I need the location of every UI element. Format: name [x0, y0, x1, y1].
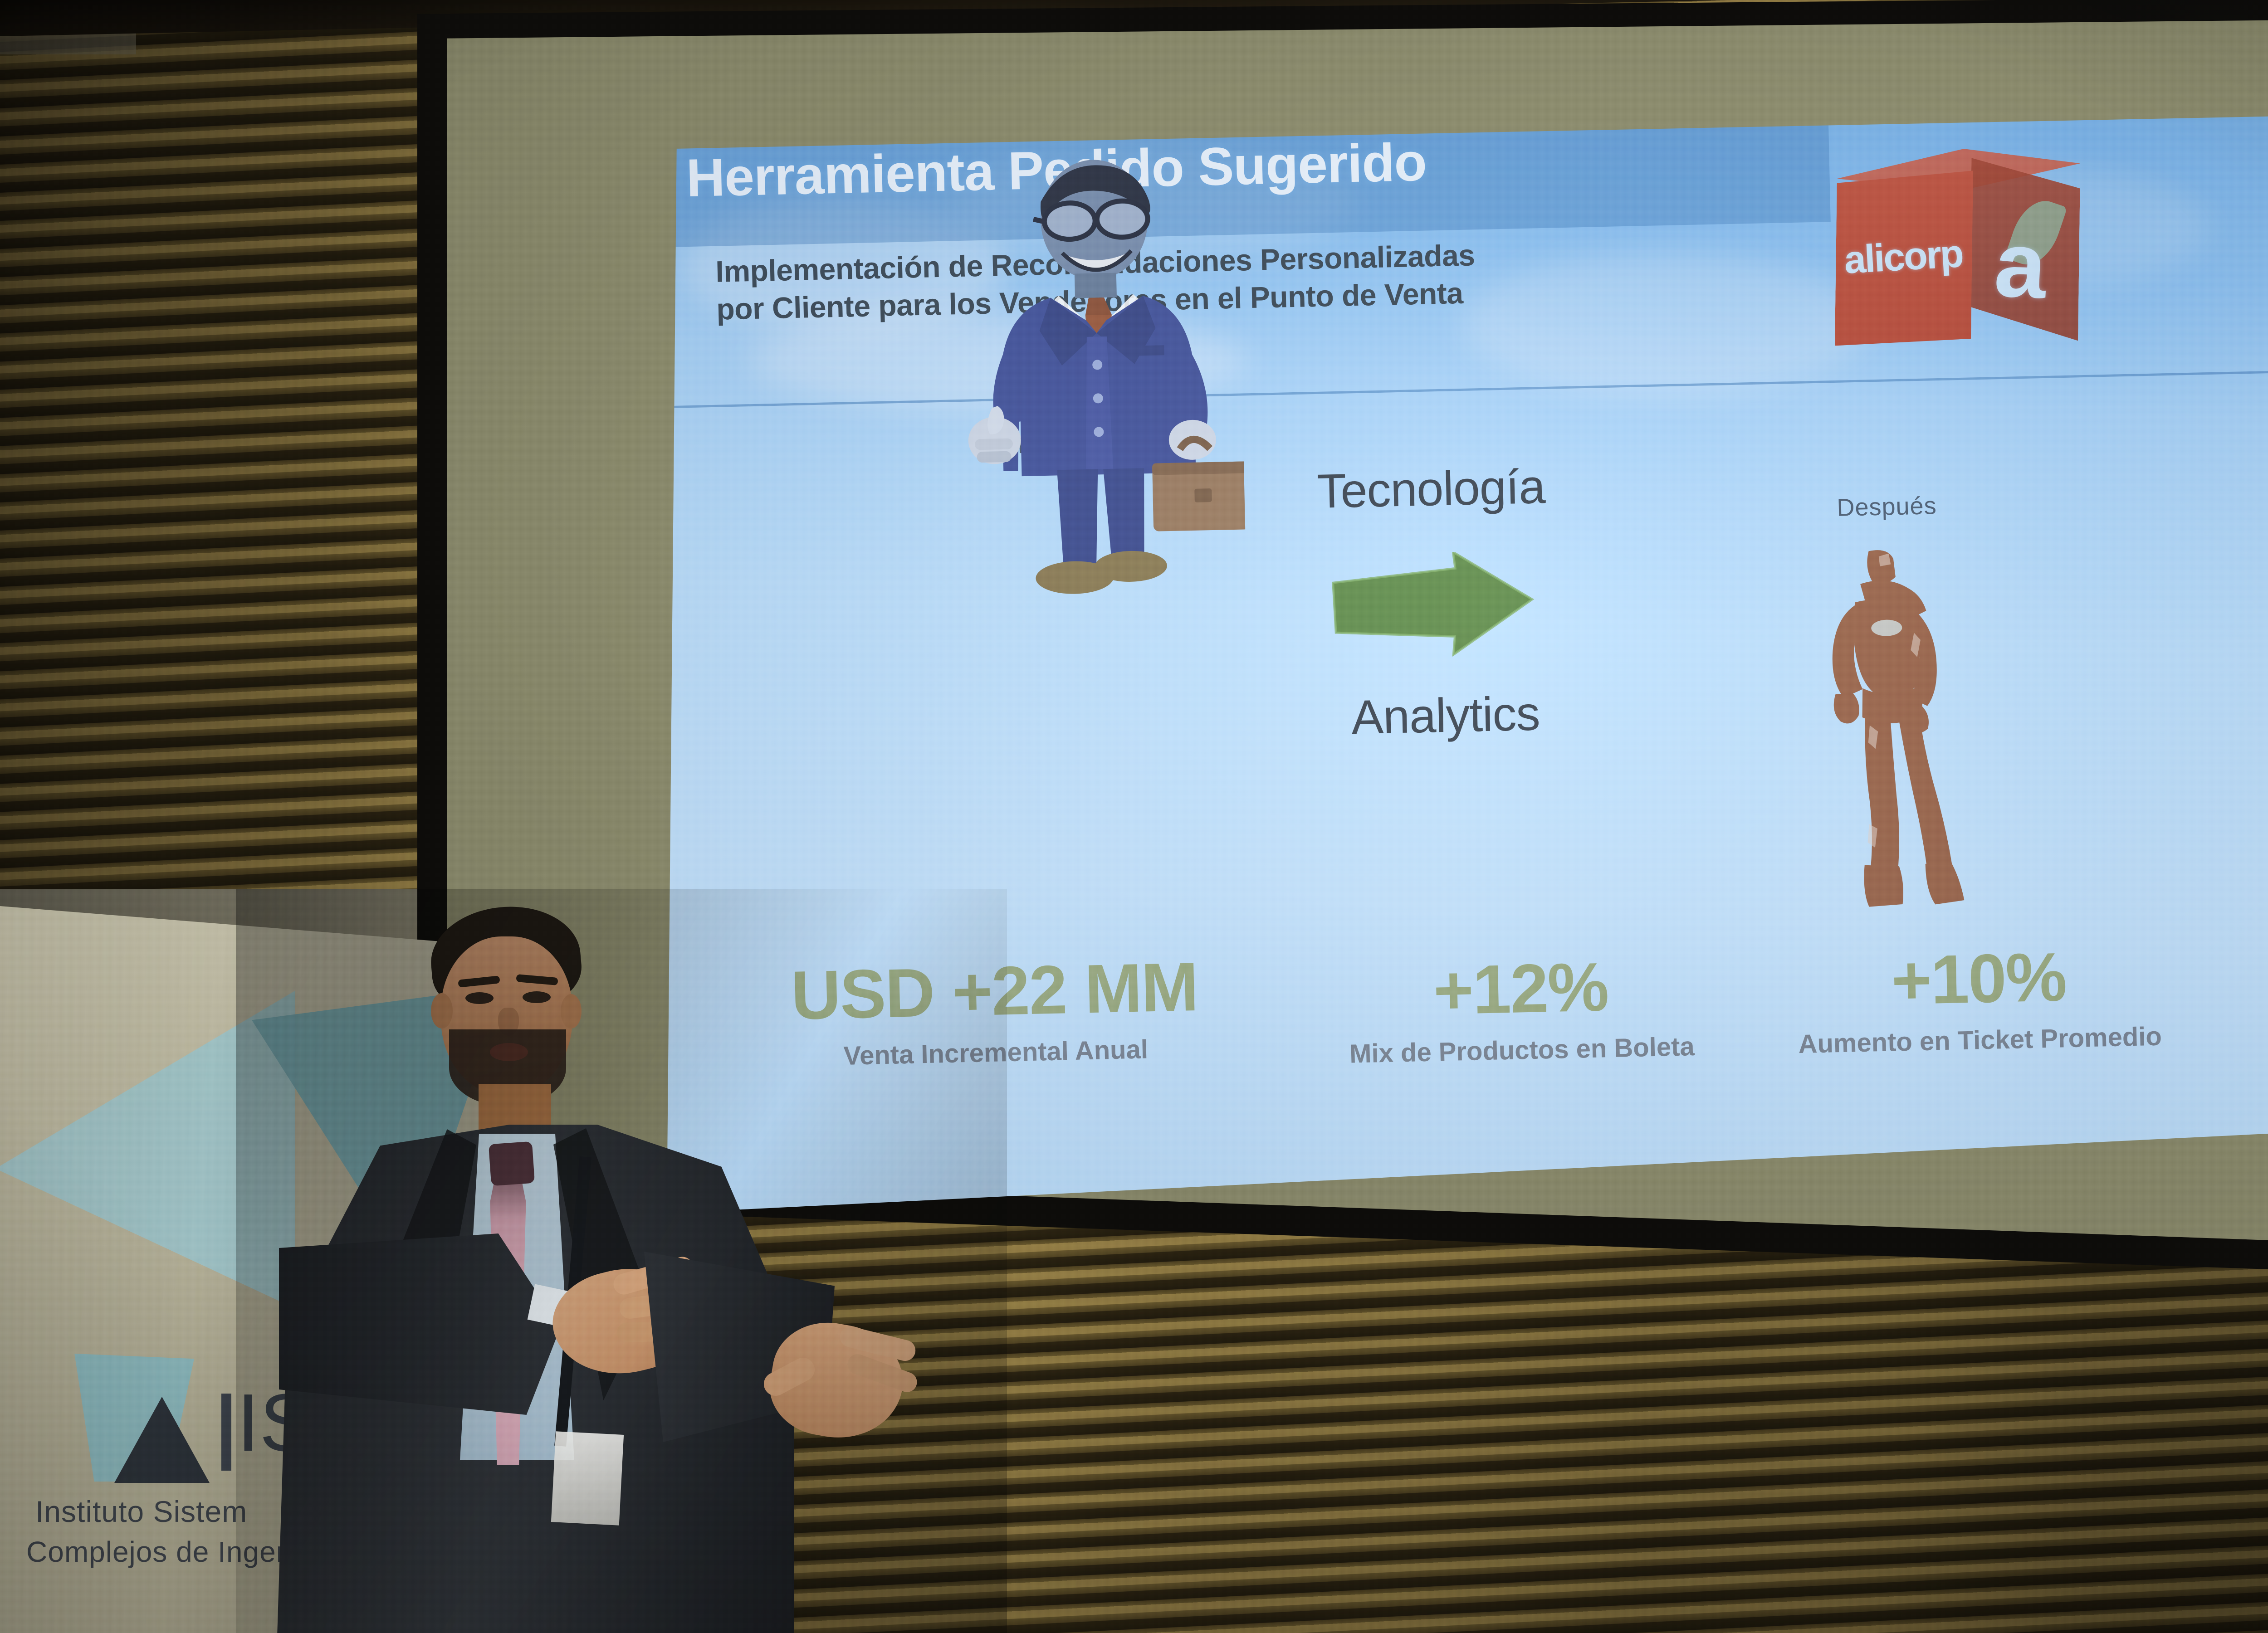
alicorp-wordmark: alicorp	[1843, 230, 1977, 283]
header-divider	[673, 370, 2268, 408]
label-despues: Después	[1837, 492, 1937, 522]
presenter-tie-knot	[489, 1141, 535, 1186]
presenter-eye-left	[465, 992, 494, 1004]
metric-value: +10%	[1751, 939, 2206, 1018]
armored-figure-icon	[1810, 546, 1968, 912]
metric-card: +12% Mix de Productos en Boleta	[1316, 950, 1726, 1070]
right-arrow-icon	[1330, 551, 1536, 659]
presenter-ear-left	[431, 993, 453, 1029]
presenter-ear-right	[561, 994, 582, 1029]
metric-caption: Aumento en Ticket Promedio	[1753, 1020, 2207, 1060]
alicorp-letter-a: a	[1993, 228, 2048, 302]
metric-caption: Mix de Productos en Boleta	[1318, 1031, 1726, 1070]
presentation-photo-scene: Herramienta Pedido Sugerido Implementaci…	[0, 0, 2268, 1633]
ironman-illustration	[1810, 546, 1968, 912]
metric-value: +12%	[1316, 950, 1725, 1028]
presenter	[236, 889, 1007, 1633]
metric-card: +10% Aumento en Ticket Promedio	[1751, 939, 2207, 1060]
presenter-eye-right	[523, 991, 551, 1003]
presenter-mouth	[490, 1043, 528, 1061]
presenter-badge	[551, 1431, 624, 1526]
center-word-analytics: Analytics	[1351, 686, 1540, 745]
alicorp-logo: alicorp a	[1834, 147, 2082, 368]
businessman-illustration	[947, 149, 1247, 609]
center-word-technology: Tecnología	[1316, 459, 1545, 519]
businessman-icon	[947, 149, 1247, 609]
